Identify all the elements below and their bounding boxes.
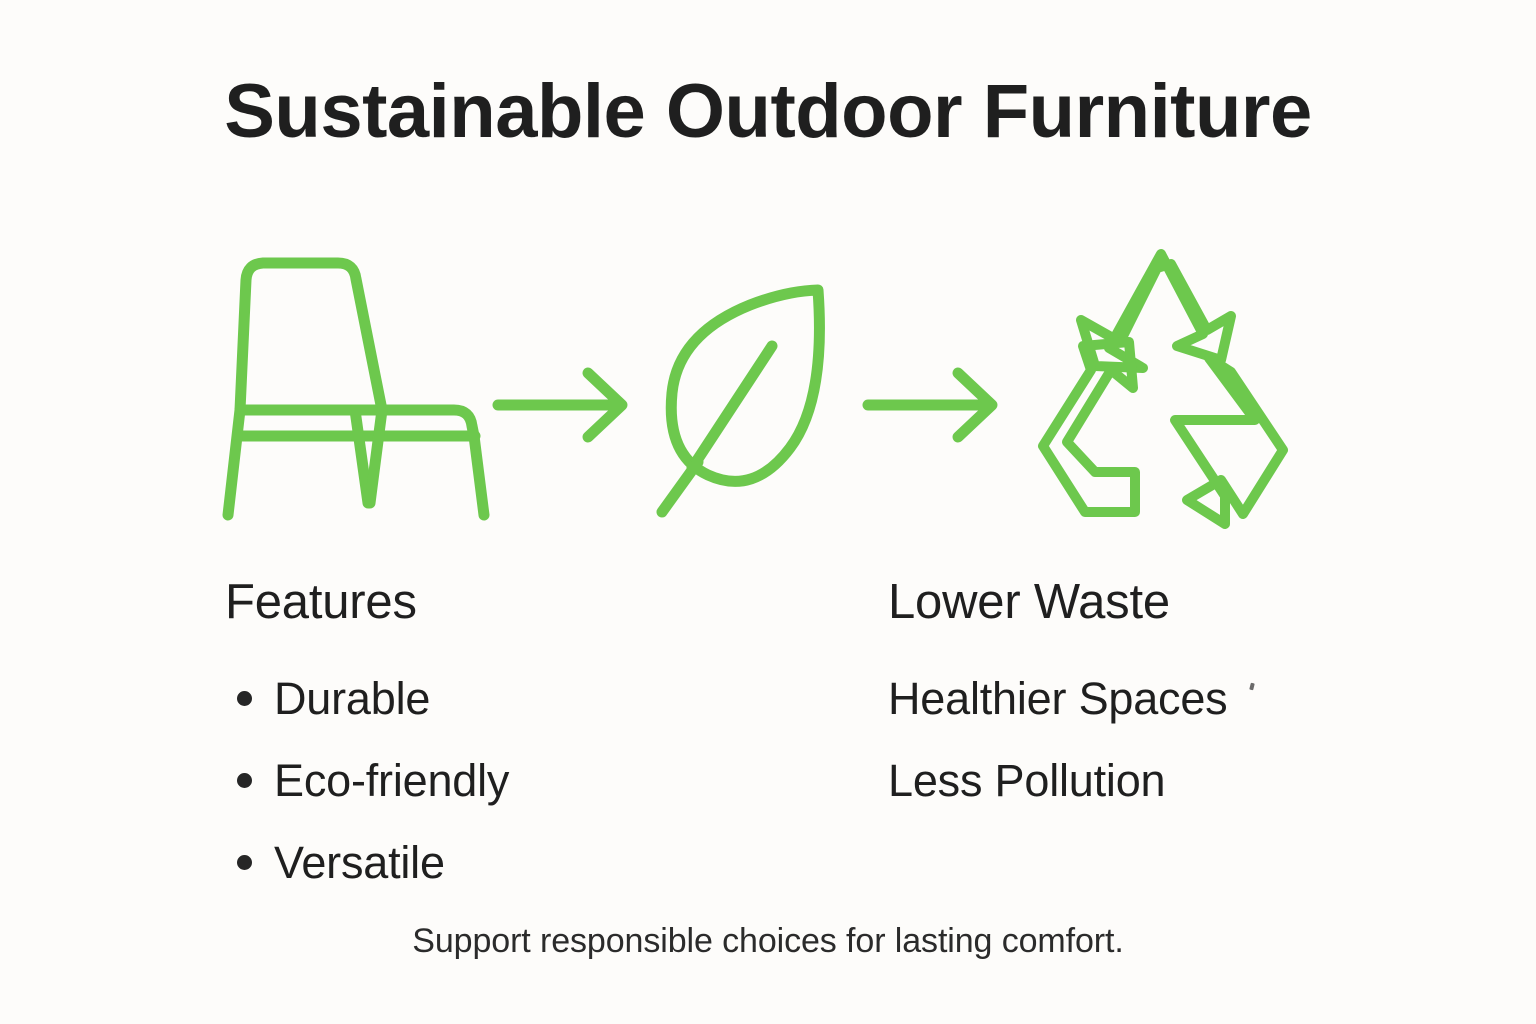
- leaf-icon: [650, 250, 855, 535]
- footer-caption: Support responsible choices for lasting …: [0, 922, 1536, 961]
- lower-waste-heading: Lower Waste: [888, 578, 1448, 627]
- features-column: Features Durable Eco-friendly Versatile: [225, 578, 785, 903]
- bullet-icon: [237, 691, 252, 706]
- list-item: Healthier Spaces: [888, 657, 1448, 739]
- list-item: Less Pollution: [888, 739, 1448, 821]
- chair-icon: [222, 250, 502, 535]
- lower-waste-column: Lower Waste Healthier Spaces Less Pollut…: [888, 578, 1448, 821]
- list-item: Durable: [225, 657, 785, 739]
- slide-canvas: Sustainable Outdoor Furniture: [0, 0, 1536, 1024]
- render-artifact-speck: [1249, 682, 1255, 690]
- lower-waste-list: Healthier Spaces Less Pollution: [888, 657, 1448, 821]
- list-item-label: Less Pollution: [888, 758, 1165, 803]
- features-heading: Features: [225, 578, 785, 627]
- bullet-icon: [237, 773, 252, 788]
- icon-flow-row: [0, 250, 1536, 535]
- page-title: Sustainable Outdoor Furniture: [0, 74, 1536, 150]
- list-item-label: Eco-friendly: [274, 758, 509, 803]
- list-item: Eco-friendly: [225, 739, 785, 821]
- arrow-right-icon: [862, 250, 1010, 535]
- recycle-icon: [1025, 250, 1310, 535]
- list-item-label: Durable: [274, 676, 430, 721]
- bullet-icon: [237, 855, 252, 870]
- list-item-label: Healthier Spaces: [888, 676, 1228, 721]
- features-list: Durable Eco-friendly Versatile: [225, 657, 785, 903]
- arrow-right-icon: [492, 250, 640, 535]
- list-item: Versatile: [225, 821, 785, 903]
- list-item-label: Versatile: [274, 840, 445, 885]
